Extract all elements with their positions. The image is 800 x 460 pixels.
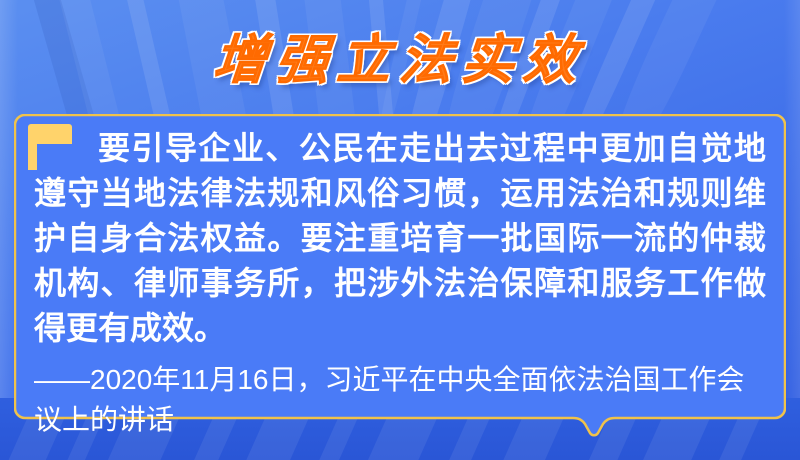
quote-text: 要引导企业、公民在走出去过程中更加自觉地遵守当地法律法规和风俗习惯，运用法治和规… (30, 126, 770, 351)
poster-title-area: 增强立法实效 (0, 18, 800, 94)
quote-panel-content: 要引导企业、公民在走出去过程中更加自觉地遵守当地法律法规和风俗习惯，运用法治和规… (14, 114, 786, 418)
page-title: 增强立法实效 (211, 18, 590, 94)
quote-attribution: ——2020年11月16日，习近平在中央全面依法治国工作会议上的讲话 (30, 360, 770, 440)
poster-canvas: 增强立法实效 要引导企业、公民在走出去过程中更加自觉地遵守当地法律法规和风俗习惯… (0, 0, 800, 460)
quote-panel: 要引导企业、公民在走出去过程中更加自觉地遵守当地法律法规和风俗习惯，运用法治和规… (14, 114, 786, 438)
